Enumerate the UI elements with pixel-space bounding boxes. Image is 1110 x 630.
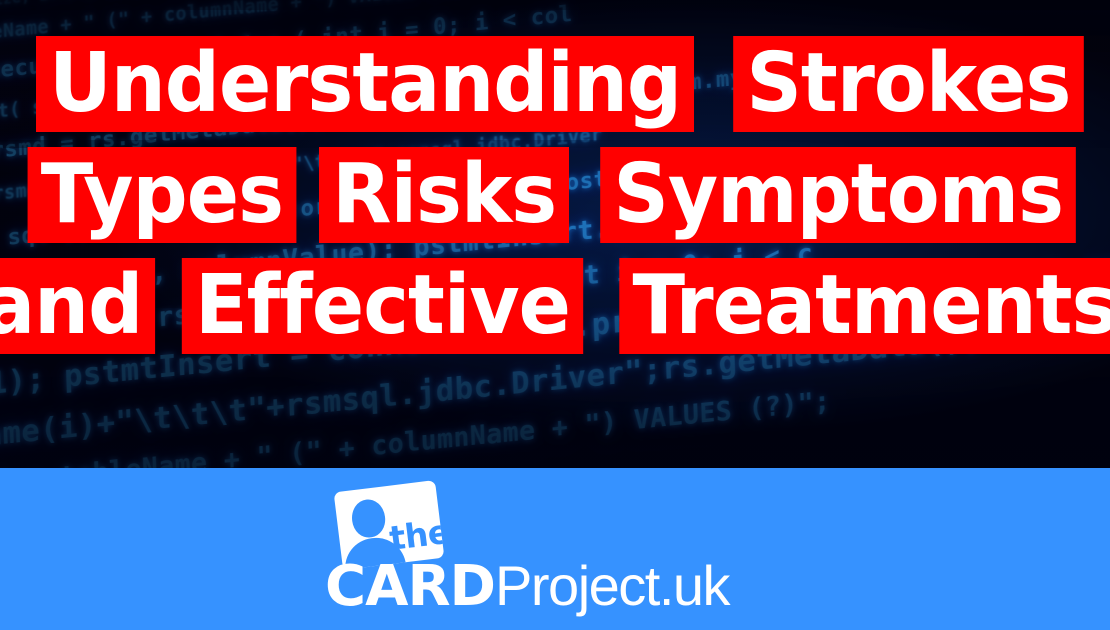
headline-word: Treatments [619,258,1110,354]
brand-logo[interactable]: the CARDProject.uk [325,486,785,612]
headline-word: and [0,258,156,354]
logo-the-text: the [388,515,445,555]
headline-line-1: Understanding Strokes [0,36,1110,132]
avatar-head-icon [350,498,387,540]
promo-banner: executeUpdate(); } } } catch ( SQLExcept… [0,0,1110,630]
headline-line-2: Types Risks Symptoms [0,147,1110,243]
brand-light-text: Project.uk [495,554,729,617]
headline-word: Effective [182,258,583,354]
headline-line-3: and Effective Treatments [0,258,1110,354]
headline-word: Understanding [36,36,694,132]
headline-word: Symptoms [600,147,1076,243]
brand-wordmark: CARDProject.uk [325,558,729,615]
brand-bold-text: CARD [325,554,495,619]
headline: Understanding Strokes Types Risks Sympto… [0,0,1110,468]
headline-word: Types [27,147,296,243]
footer-bar: the CARDProject.uk [0,468,1110,630]
headline-word: Risks [319,147,569,243]
headline-word: Strokes [733,36,1083,132]
